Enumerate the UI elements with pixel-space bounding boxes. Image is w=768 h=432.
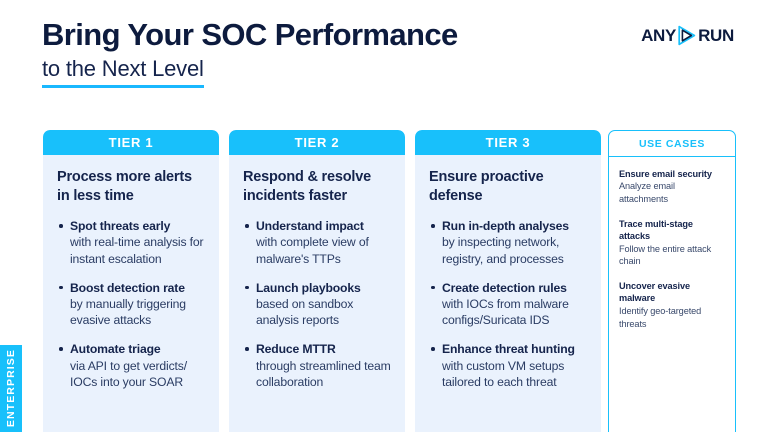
- bullet-title: Automate triage: [70, 341, 205, 357]
- tier-body-3: Ensure proactive defense Run in-depth an…: [415, 155, 601, 390]
- list-item: Uncover evasive malware Identify geo-tar…: [619, 280, 725, 330]
- use-cases-badge: USE CASES: [609, 131, 735, 157]
- tier-badge-1: TIER 1: [43, 130, 219, 155]
- list-item: Enhance threat hunting with custom VM se…: [429, 341, 587, 390]
- bullet-title: Understand impact: [256, 218, 391, 234]
- list-item: Boost detection rate by manually trigger…: [57, 280, 205, 329]
- bullet-desc: by manually triggering evasive attacks: [70, 296, 205, 328]
- bullet-title: Reduce MTTR: [256, 341, 391, 357]
- logo-text-any: ANY: [641, 27, 676, 44]
- use-cases-body: Ensure email security Analyze email atta…: [609, 157, 735, 330]
- list-item: Automate triage via API to get verdicts/…: [57, 341, 205, 390]
- bullet-title: Launch playbooks: [256, 280, 391, 296]
- tier-badge-label-1: TIER 1: [109, 135, 154, 150]
- use-case-desc: Follow the entire attack chain: [619, 243, 725, 268]
- tier-body-2: Respond & resolve incidents faster Under…: [229, 155, 405, 390]
- page-header: Bring Your SOC Performance to the Next L…: [42, 18, 642, 88]
- bullet-desc: by inspecting network, registry, and pro…: [442, 234, 587, 266]
- tier-card-2[interactable]: TIER 2 Respond & resolve incidents faste…: [229, 130, 405, 432]
- tier-bullets-1: Spot threats early with real-time analys…: [57, 218, 205, 390]
- bullet-title: Spot threats early: [70, 218, 205, 234]
- page-subtitle: to the Next Level: [42, 56, 204, 81]
- list-item: Understand impact with complete view of …: [243, 218, 391, 267]
- bullet-title: Boost detection rate: [70, 280, 205, 296]
- tier-card-3[interactable]: TIER 3 Ensure proactive defense Run in-d…: [415, 130, 601, 432]
- tier-bullets-2: Understand impact with complete view of …: [243, 218, 391, 390]
- list-item: Reduce MTTR through streamlined team col…: [243, 341, 391, 390]
- tier-badge-label-3: TIER 3: [486, 135, 531, 150]
- bullet-desc: with IOCs from malware configs/Suricata …: [442, 296, 587, 328]
- use-cases-panel[interactable]: USE CASES Ensure email security Analyze …: [608, 130, 736, 432]
- bullet-desc: with real-time analysis for instant esca…: [70, 234, 205, 266]
- bullet-title: Run in-depth analyses: [442, 218, 587, 234]
- tier-body-1: Process more alerts in less time Spot th…: [43, 155, 219, 390]
- use-case-title: Uncover evasive malware: [619, 280, 725, 305]
- play-triangle-icon: [677, 25, 697, 46]
- list-item: Trace multi-stage attacks Follow the ent…: [619, 218, 725, 268]
- use-cases-badge-label: USE CASES: [639, 138, 705, 150]
- logo-text-run: RUN: [698, 27, 734, 44]
- tier-badge-3: TIER 3: [415, 130, 601, 155]
- bullet-desc: based on sandbox analysis reports: [256, 296, 391, 328]
- page-subtitle-underline: to the Next Level: [42, 56, 204, 88]
- enterprise-side-tab[interactable]: ENTERPRISE: [0, 345, 22, 432]
- use-case-desc: Analyze email attachments: [619, 180, 725, 205]
- tier-badge-label-2: TIER 2: [295, 135, 340, 150]
- bullet-desc: with custom VM setups tailored to each t…: [442, 358, 587, 390]
- page-title: Bring Your SOC Performance: [42, 18, 642, 53]
- tier-heading-3: Ensure proactive defense: [429, 168, 587, 205]
- anyrun-logo[interactable]: ANY RUN: [641, 24, 734, 46]
- enterprise-side-tab-label: ENTERPRISE: [5, 349, 17, 427]
- bullet-title: Create detection rules: [442, 280, 587, 296]
- list-item: Ensure email security Analyze email atta…: [619, 168, 725, 206]
- list-item: Run in-depth analyses by inspecting netw…: [429, 218, 587, 267]
- list-item: Spot threats early with real-time analys…: [57, 218, 205, 267]
- use-case-title: Trace multi-stage attacks: [619, 218, 725, 243]
- list-item: Create detection rules with IOCs from ma…: [429, 280, 587, 329]
- list-item: Launch playbooks based on sandbox analys…: [243, 280, 391, 329]
- slide-root: Bring Your SOC Performance to the Next L…: [0, 0, 768, 432]
- bullet-desc: via API to get verdicts/ IOCs into your …: [70, 358, 205, 390]
- use-case-title: Ensure email security: [619, 168, 725, 180]
- bullet-desc: with complete view of malware's TTPs: [256, 234, 391, 266]
- tier-card-1[interactable]: TIER 1 Process more alerts in less time …: [43, 130, 219, 432]
- bullet-title: Enhance threat hunting: [442, 341, 587, 357]
- tier-bullets-3: Run in-depth analyses by inspecting netw…: [429, 218, 587, 390]
- use-case-desc: Identify geo-targeted threats: [619, 305, 725, 330]
- tier-heading-2: Respond & resolve incidents faster: [243, 168, 391, 205]
- bullet-desc: through streamlined team collaboration: [256, 358, 391, 390]
- tier-badge-2: TIER 2: [229, 130, 405, 155]
- tier-heading-1: Process more alerts in less time: [57, 168, 205, 205]
